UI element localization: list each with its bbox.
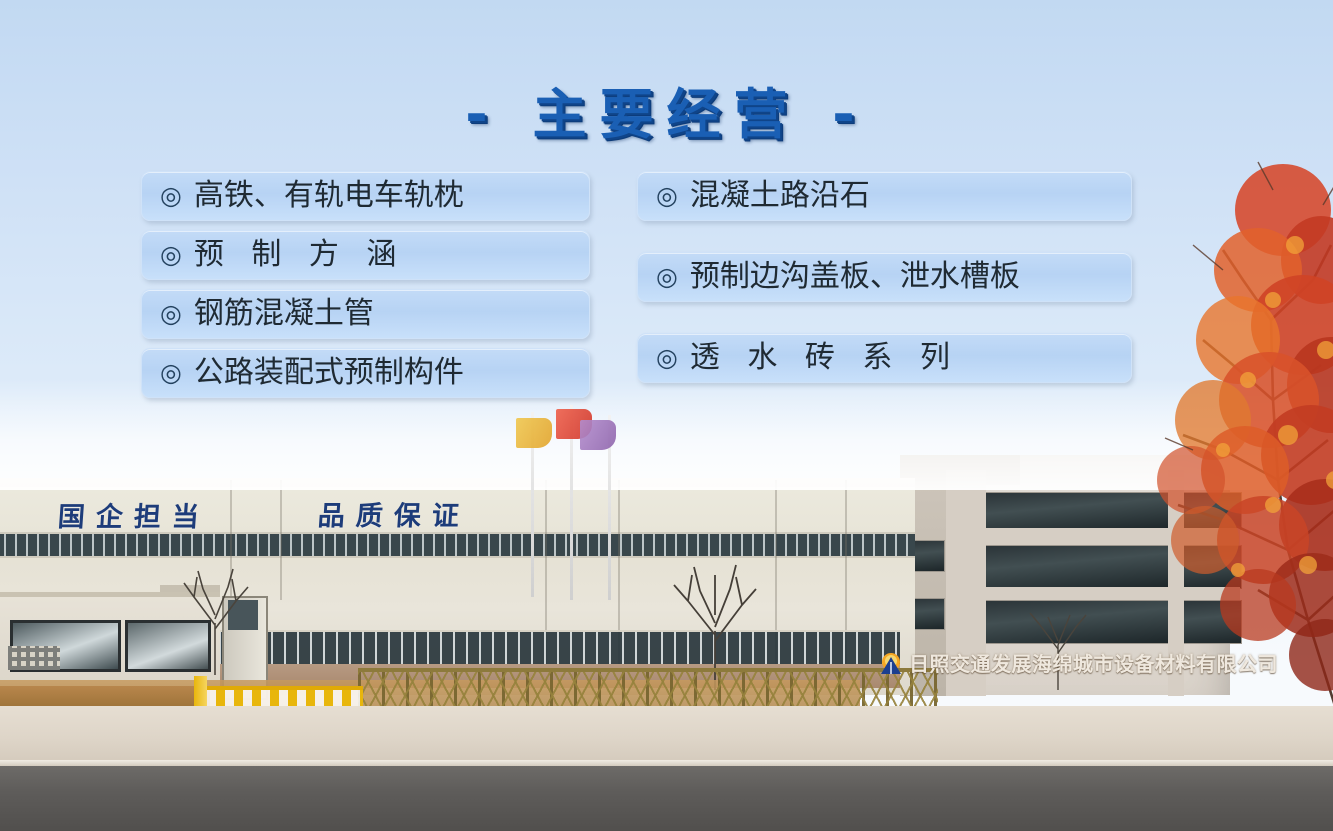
- bare-tree: [170, 545, 260, 675]
- dirt-strip: [0, 686, 210, 708]
- service-item[interactable]: ◎ 透 水 砖 系 列: [637, 333, 1132, 383]
- office-window: [1180, 492, 1242, 530]
- service-label: 钢筋混凝土管: [194, 299, 374, 329]
- office-band: [946, 528, 1240, 545]
- services-list: ◎ 高铁、有轨电车轨枕 ◎ 预 制 方 涵 ◎ 钢筋混凝土管 ◎ 公路装配式预制…: [0, 165, 1333, 395]
- bullet-circle-icon: ◎: [160, 242, 182, 267]
- factory-clerestory-windows: [0, 532, 915, 558]
- office-window: [1180, 600, 1242, 644]
- service-item[interactable]: ◎ 公路装配式预制构件: [141, 348, 590, 398]
- company-sign: 日照交通发展海绵城市设备材料有限公司: [878, 648, 1278, 677]
- company-logo-icon: [878, 650, 904, 676]
- service-item[interactable]: ◎ 高铁、有轨电车轨枕: [141, 171, 590, 221]
- bullet-circle-icon: ◎: [656, 345, 678, 370]
- company-name: 日照交通发展海绵城市设备材料有限公司: [909, 648, 1278, 677]
- building-slogan-left: 国企担当: [57, 495, 212, 534]
- bullet-circle-icon: ◎: [160, 360, 182, 385]
- flag-purple: [580, 420, 616, 450]
- bullet-circle-icon: ◎: [160, 301, 182, 326]
- service-item[interactable]: ◎ 预制边沟盖板、泄水槽板: [637, 252, 1132, 302]
- service-label: 高铁、有轨电车轨枕: [194, 181, 464, 211]
- service-label: 混凝土路沿石: [690, 181, 870, 211]
- service-label: 透 水 砖 系 列: [690, 343, 959, 373]
- page-title: - 主要经营 -: [0, 70, 1333, 149]
- services-left-column: ◎ 高铁、有轨电车轨枕 ◎ 预 制 方 涵 ◎ 钢筋混凝土管 ◎ 公路装配式预制…: [141, 171, 590, 407]
- service-label: 公路装配式预制构件: [194, 358, 464, 388]
- office-window: [985, 492, 1172, 530]
- service-label: 预 制 方 涵: [194, 240, 406, 270]
- asphalt-road: [0, 766, 1333, 831]
- building-slogan-right: 品质保证: [317, 494, 472, 533]
- bullet-circle-icon: ◎: [656, 183, 678, 208]
- bullet-circle-icon: ◎: [656, 264, 678, 289]
- vent-grille: [8, 646, 60, 670]
- service-item[interactable]: ◎ 预 制 方 涵: [141, 230, 590, 280]
- service-item[interactable]: ◎ 钢筋混凝土管: [141, 289, 590, 339]
- concrete-apron: [0, 706, 1333, 764]
- service-item[interactable]: ◎ 混凝土路沿石: [637, 171, 1132, 221]
- office-window: [1180, 545, 1242, 589]
- wall-seam: [280, 480, 282, 600]
- promo-banner: 国企担当 品质保证 日照交通发展海绵城市设备材料有限公司: [0, 0, 1333, 831]
- service-label: 预制边沟盖板、泄水槽板: [690, 262, 1020, 292]
- services-right-column: ◎ 混凝土路沿石 ◎ 预制边沟盖板、泄水槽板 ◎ 透 水 砖 系 列: [637, 171, 1132, 414]
- flag-yellow: [516, 418, 552, 448]
- bullet-circle-icon: ◎: [160, 183, 182, 208]
